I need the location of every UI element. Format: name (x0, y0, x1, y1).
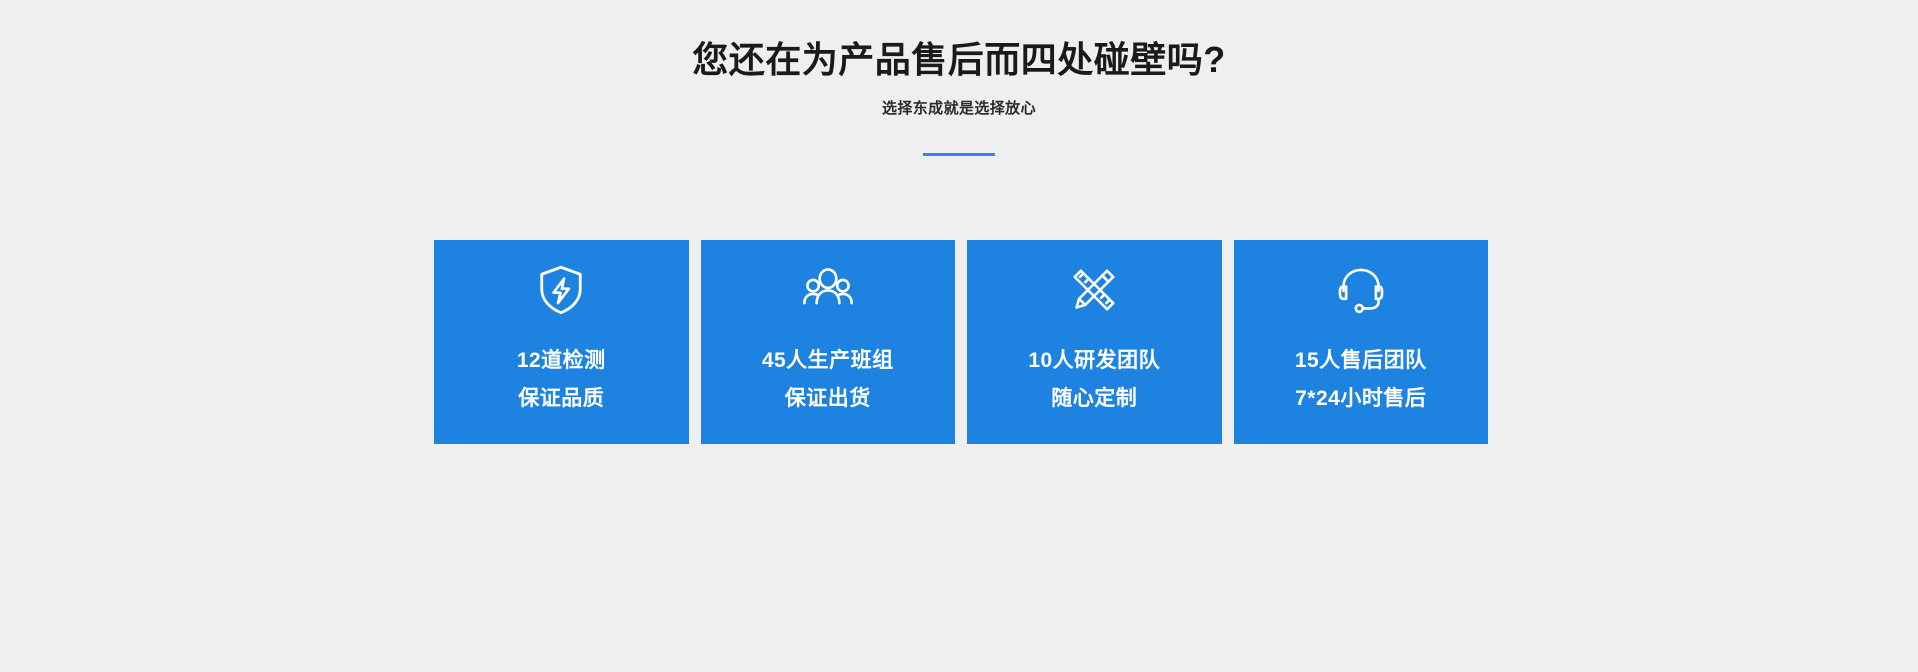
feature-cards-row: 12道检测 保证品质 45人生产班组 保证出货 (434, 240, 1488, 444)
feature-card-support[interactable]: 15人售后团队 7*24小时售后 (1234, 240, 1489, 444)
feature-card-production[interactable]: 45人生产班组 保证出货 (701, 240, 956, 444)
feature-card-text: 45人生产班组 保证出货 (762, 328, 894, 418)
feature-card-quality[interactable]: 12道检测 保证品质 (434, 240, 689, 444)
page-subtitle: 选择东成就是选择放心 (0, 82, 1918, 119)
shield-bolt-icon (533, 262, 589, 318)
feature-card-rnd[interactable]: 10人研发团队 随心定制 (967, 240, 1222, 444)
feature-line-1: 10人研发团队 (1028, 342, 1160, 380)
feature-line-1: 45人生产班组 (762, 342, 894, 380)
pencil-ruler-icon (1066, 262, 1122, 318)
headset-icon (1333, 262, 1389, 318)
feature-line-2: 随心定制 (1028, 380, 1160, 418)
feature-line-2: 保证出货 (762, 380, 894, 418)
section-header: 您还在为产品售后而四处碰壁吗? 选择东成就是选择放心 (0, 0, 1918, 156)
feature-line-1: 15人售后团队 (1295, 342, 1427, 380)
title-divider (923, 153, 995, 156)
page-title: 您还在为产品售后而四处碰壁吗? (0, 0, 1918, 82)
feature-card-text: 15人售后团队 7*24小时售后 (1295, 328, 1427, 418)
feature-card-text: 12道检测 保证品质 (517, 328, 606, 418)
feature-card-text: 10人研发团队 随心定制 (1028, 328, 1160, 418)
people-group-icon (800, 262, 856, 318)
feature-line-1: 12道检测 (517, 342, 606, 380)
feature-line-2: 保证品质 (517, 380, 606, 418)
promo-section: 您还在为产品售后而四处碰壁吗? 选择东成就是选择放心 12道检测 保证品质 (0, 0, 1918, 672)
feature-line-2: 7*24小时售后 (1295, 380, 1427, 418)
